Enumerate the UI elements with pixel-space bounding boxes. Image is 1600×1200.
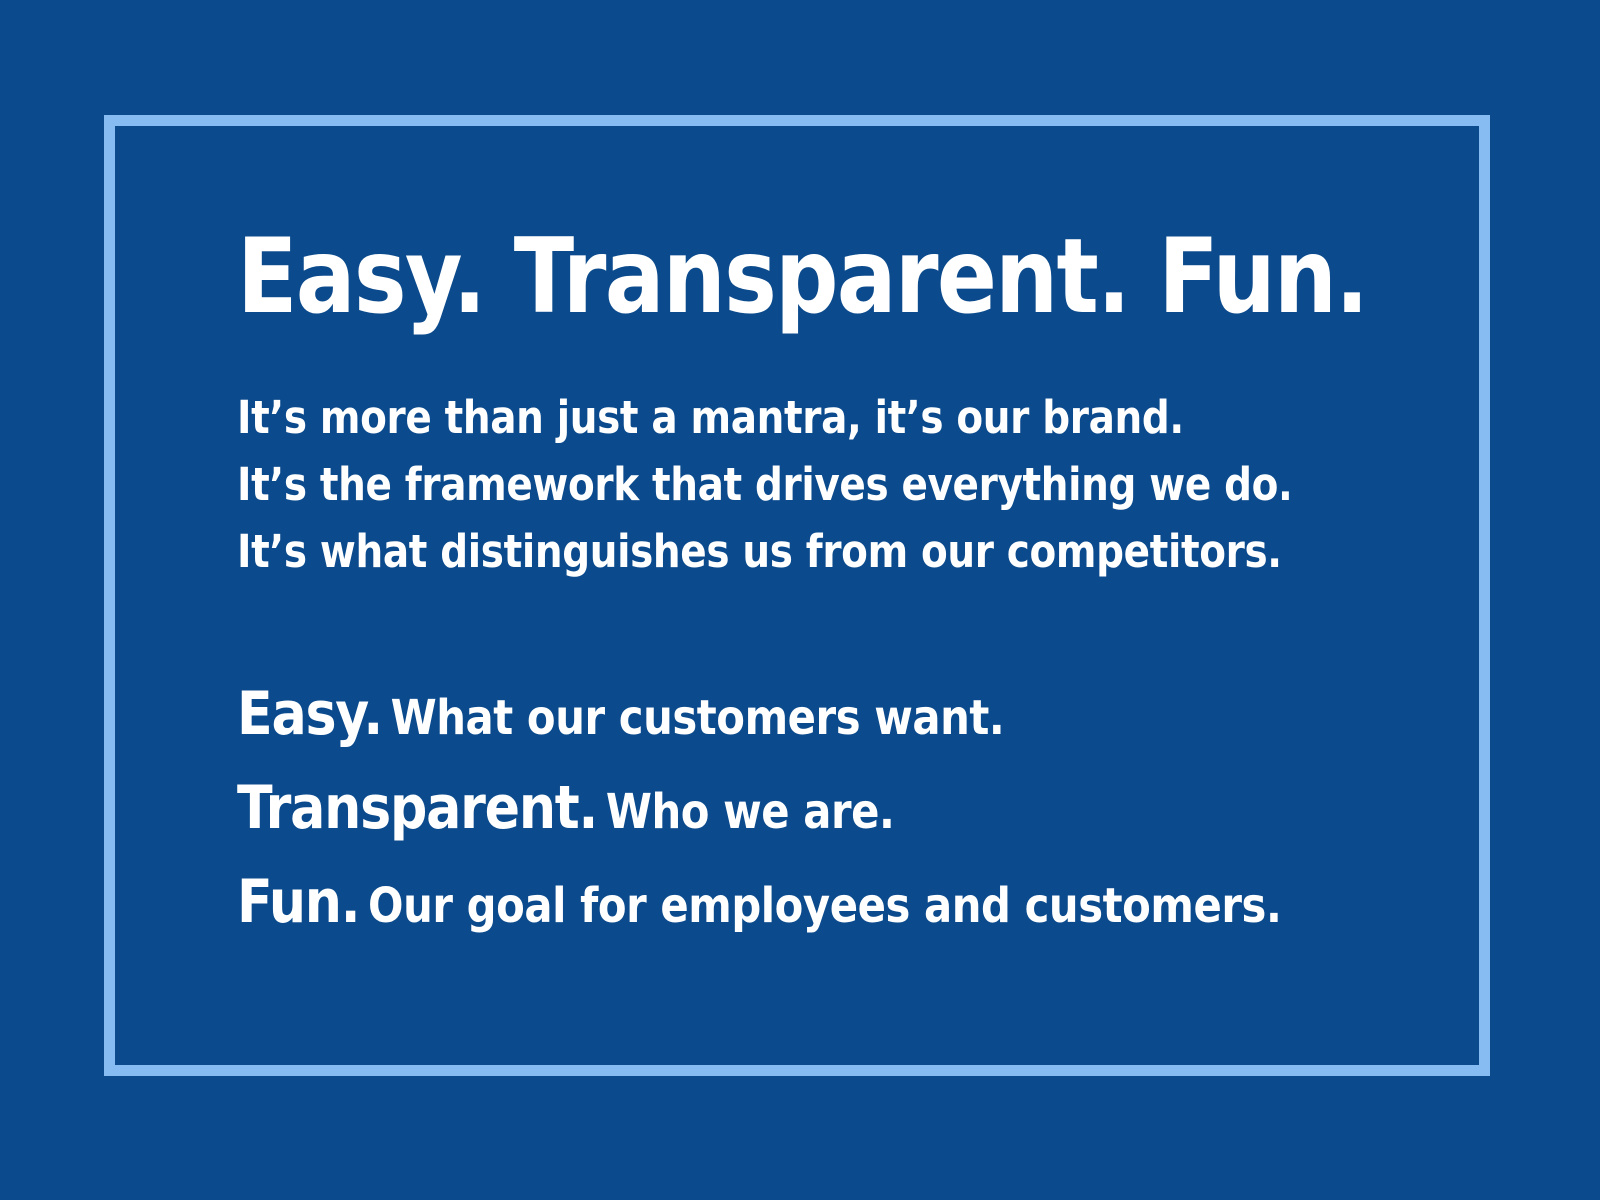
brand-mantra-slide: Easy. Transparent. Fun. It’s more than j… xyxy=(0,0,1600,1200)
definition-term-fun: Fun. xyxy=(237,867,359,937)
definition-list: Easy.What our customers want. Transparen… xyxy=(237,681,1417,939)
definition-description-fun: Our goal for employees and customers. xyxy=(368,878,1281,934)
definition-row-fun: Fun.Our goal for employees and customers… xyxy=(237,869,1264,939)
mantra-line-1: It’s more than just a mantra, it’s our b… xyxy=(237,384,1258,451)
definition-term-easy: Easy. xyxy=(237,679,382,749)
definition-term-transparent: Transparent. xyxy=(237,773,597,843)
definition-row-transparent: Transparent.Who we are. xyxy=(237,775,1264,845)
mantra-paragraph: It’s more than just a mantra, it’s our b… xyxy=(237,384,1417,585)
mantra-line-3: It’s what distinguishes us from our comp… xyxy=(237,518,1258,585)
definition-description-transparent: Who we are. xyxy=(606,784,895,840)
definition-description-easy: What our customers want. xyxy=(391,690,1005,746)
mantra-line-2: It’s the framework that drives everythin… xyxy=(237,451,1258,518)
definition-row-easy: Easy.What our customers want. xyxy=(237,681,1264,751)
slide-content: Easy. Transparent. Fun. It’s more than j… xyxy=(237,222,1417,939)
page-title: Easy. Transparent. Fun. xyxy=(237,222,1252,332)
